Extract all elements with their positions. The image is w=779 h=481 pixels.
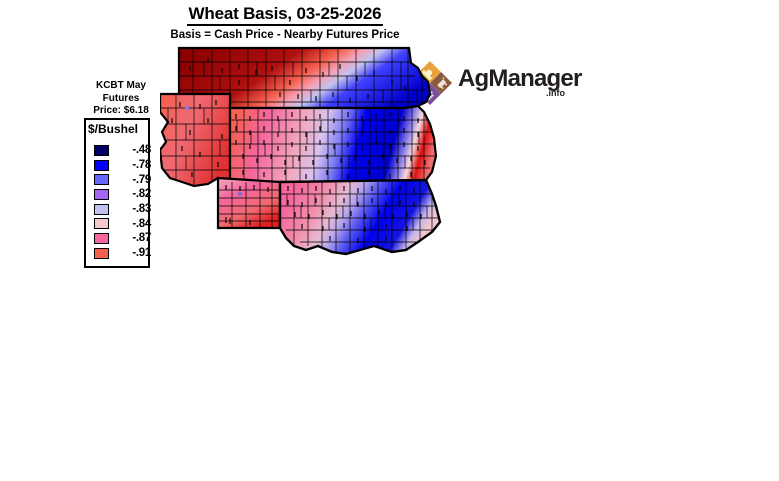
legend-item: -.84 bbox=[88, 216, 152, 231]
title-block: Wheat Basis, 03-25-2026 Basis = Cash Pri… bbox=[155, 4, 415, 42]
legend-item: -.79 bbox=[88, 172, 152, 187]
legend-value: -.83 bbox=[132, 203, 152, 215]
basis-choropleth-map[interactable] bbox=[160, 46, 445, 274]
map-svg bbox=[160, 46, 445, 274]
legend-item: -.82 bbox=[88, 187, 152, 202]
state-colorado[interactable] bbox=[160, 94, 230, 186]
legend-value: -.84 bbox=[132, 218, 152, 230]
legend-swatch-icon bbox=[94, 204, 109, 215]
legend-swatch-icon bbox=[94, 248, 109, 259]
legend-swatch-icon bbox=[94, 174, 109, 185]
oklahoma-panhandle[interactable] bbox=[218, 178, 280, 228]
legend-swatch-icon bbox=[94, 189, 109, 200]
page-subtitle: Basis = Cash Price - Nearby Futures Pric… bbox=[155, 29, 415, 42]
legend-heading-block: KCBT May Futures Price: $6.18 bbox=[78, 80, 164, 118]
legend-swatch-icon bbox=[94, 233, 109, 244]
legend-swatch-icon bbox=[94, 160, 109, 171]
legend-item: -.78 bbox=[88, 158, 152, 173]
legend-value: -.82 bbox=[132, 188, 152, 200]
legend-item: -.48 bbox=[88, 143, 152, 158]
legend-swatch-icon bbox=[94, 218, 109, 229]
legend-entries: -.48 -.78 -.79 -.82 -.83 -.84 -.87 -.91 bbox=[88, 143, 152, 261]
logo-suffix-text: .info bbox=[546, 88, 565, 98]
legend-item: -.83 bbox=[88, 202, 152, 217]
state-oklahoma[interactable] bbox=[280, 180, 440, 254]
legend-units-label: $/Bushel bbox=[88, 122, 158, 136]
legend-value: -.91 bbox=[132, 247, 152, 259]
legend-value: -.48 bbox=[132, 144, 152, 156]
legend-value: -.87 bbox=[132, 232, 152, 244]
legend-heading-line1: KCBT May bbox=[78, 80, 164, 93]
legend-swatch-icon bbox=[94, 145, 109, 156]
legend-heading-line2: Futures bbox=[78, 93, 164, 106]
legend-value: -.79 bbox=[132, 174, 152, 186]
page-title: Wheat Basis, 03-25-2026 bbox=[187, 4, 384, 26]
legend-item: -.87 bbox=[88, 231, 152, 246]
legend-item: -.91 bbox=[88, 246, 152, 261]
legend-value: -.78 bbox=[132, 159, 152, 171]
legend-heading-line3: Price: $6.18 bbox=[78, 105, 164, 118]
state-kansas[interactable] bbox=[230, 106, 436, 182]
legend-heading: KCBT May Futures Price: $6.18 bbox=[78, 80, 164, 118]
